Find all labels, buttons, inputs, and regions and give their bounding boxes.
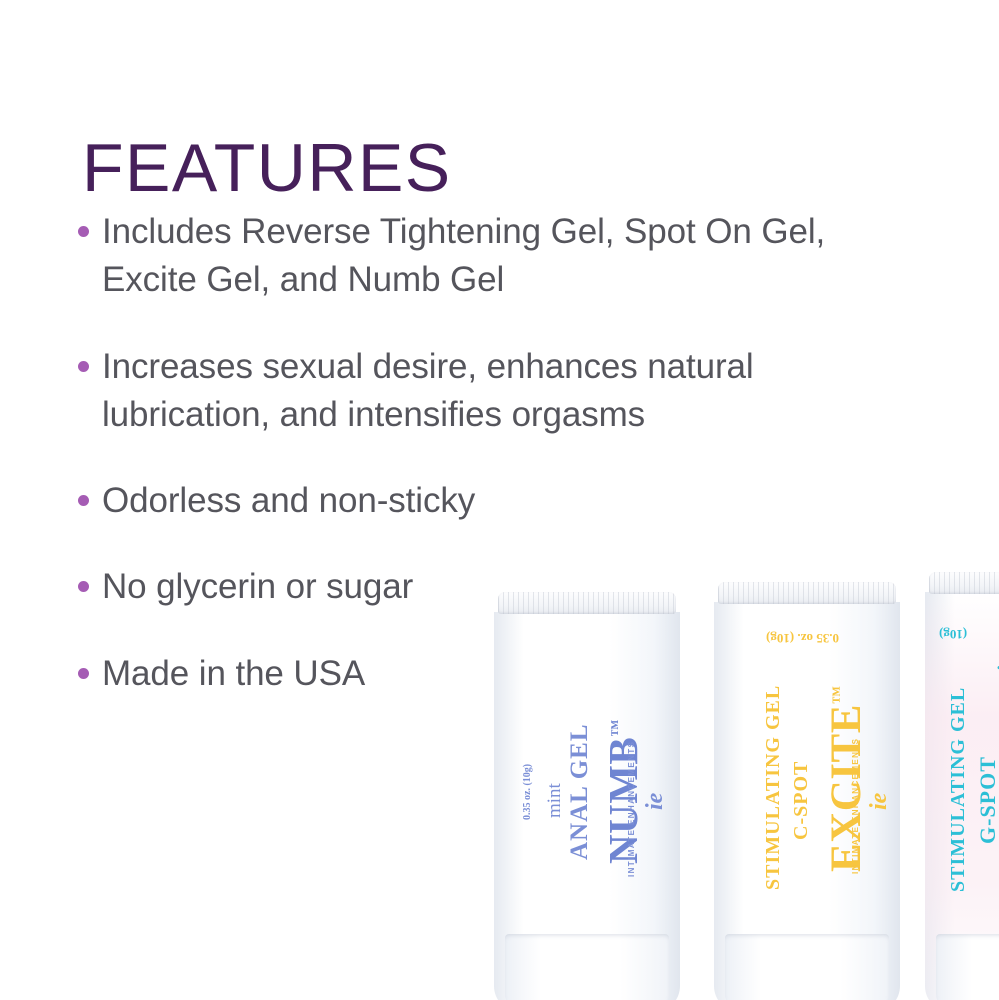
descriptor2-label: STIMULATING GEL bbox=[947, 687, 970, 892]
list-item: No glycerin or sugar bbox=[78, 563, 868, 611]
descriptor-label: ANAL GEL bbox=[566, 723, 594, 860]
bullet-icon bbox=[78, 668, 89, 679]
tube-bottom-seal bbox=[505, 934, 669, 1000]
list-item: Made in the USA bbox=[78, 650, 868, 698]
tube-surface bbox=[925, 592, 999, 1000]
tube-tint bbox=[925, 592, 999, 1000]
feature-text: No glycerin or sugar bbox=[102, 563, 868, 611]
list-item: Includes Reverse Tightening Gel, Spot On… bbox=[78, 208, 868, 305]
brand-mark: ie bbox=[993, 656, 999, 672]
brand-subtitle: INTIMATE ENHANCEMENTS bbox=[851, 738, 860, 874]
product-name-text: NUMB bbox=[600, 737, 646, 864]
bullet-icon bbox=[78, 226, 89, 237]
descriptor-label: G-SPOT bbox=[975, 756, 999, 844]
list-item: Increases sexual desire, enhances natura… bbox=[78, 343, 868, 440]
gspot-tube: (10g) STIMULATING GEL G-SPOT ie bbox=[925, 572, 999, 1000]
flavor-label: mint bbox=[544, 783, 566, 818]
feature-text: Odorless and non-sticky bbox=[102, 477, 868, 525]
brand-mark: ie bbox=[642, 793, 669, 810]
feature-text: Includes Reverse Tightening Gel, Spot On… bbox=[102, 208, 868, 305]
feature-list: Includes Reverse Tightening Gel, Spot On… bbox=[78, 208, 868, 736]
brand-mark: ie bbox=[866, 793, 893, 810]
list-item: Odorless and non-sticky bbox=[78, 477, 868, 525]
feature-slide: FEATURES Includes Reverse Tightening Gel… bbox=[0, 0, 999, 1000]
net-weight-label: 0.35 oz. (10g) bbox=[522, 764, 533, 820]
net-weight-label: (10g) bbox=[939, 626, 967, 642]
tube-bottom-seal bbox=[936, 934, 999, 1000]
bullet-icon bbox=[78, 361, 89, 372]
page-title: FEATURES bbox=[82, 134, 452, 202]
feature-text: Made in the USA bbox=[102, 650, 868, 698]
feature-text: Increases sexual desire, enhances natura… bbox=[102, 343, 868, 440]
brand-subtitle: INTIMATE ENHANCEMENTS bbox=[627, 741, 636, 877]
bullet-icon bbox=[78, 581, 89, 592]
bullet-icon bbox=[78, 495, 89, 506]
tube-cap bbox=[929, 572, 999, 594]
descriptor-label: C-SPOT bbox=[790, 761, 813, 840]
tube-bottom-seal bbox=[725, 934, 889, 1000]
product-name-label: NUMB™ bbox=[599, 719, 647, 864]
